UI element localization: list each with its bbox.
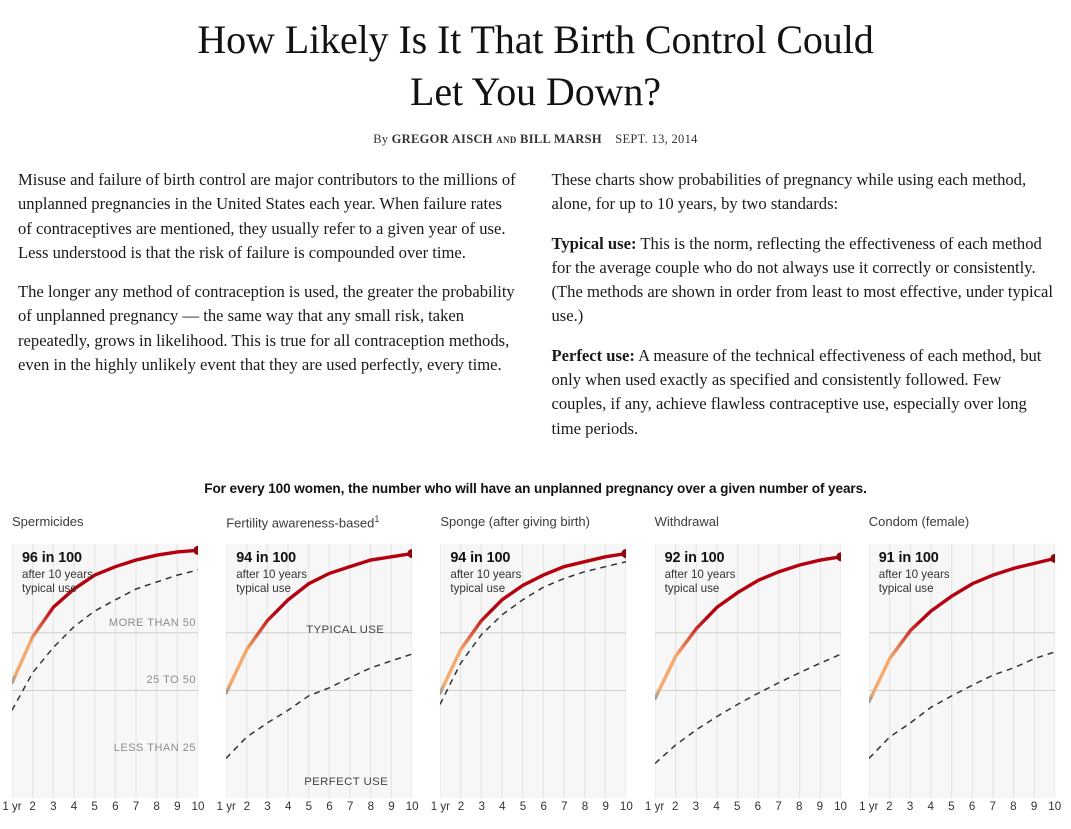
x-axis-tick: 5 <box>520 800 526 813</box>
plot-area: MORE THAN 5025 TO 50LESS THAN 25 <box>12 544 198 798</box>
x-axis-tick: 10 <box>834 800 847 813</box>
plot-area <box>869 544 1055 798</box>
chart-panel: Condom (female)91 in 100after 10 yearsty… <box>857 514 1071 814</box>
x-axis-tick: 6 <box>755 800 761 813</box>
x-axis-tick: 4 <box>713 800 719 813</box>
x-axis-tick: 7 <box>990 800 996 813</box>
panel-title: Fertility awareness-based1 <box>226 514 379 530</box>
panel-title: Withdrawal <box>655 514 719 529</box>
chart-panel: Sponge (after giving birth)94 in 100afte… <box>428 514 642 814</box>
x-axis-tick: 3 <box>907 800 913 813</box>
body-column-right: These charts show probabilities of pregn… <box>552 168 1054 441</box>
byline-date: SEPT. 13, 2014 <box>615 132 697 146</box>
body-paragraph: These charts show probabilities of pregn… <box>552 168 1054 217</box>
x-axis: 1 yr2345678910 <box>226 800 412 818</box>
x-axis-tick: 2 <box>672 800 678 813</box>
byline-prefix: By <box>373 132 388 146</box>
x-axis-tick: 8 <box>153 800 159 813</box>
panel-title: Condom (female) <box>869 514 969 529</box>
band-label: 25 TO 50 <box>147 674 196 686</box>
x-axis-tick: 7 <box>133 800 139 813</box>
x-axis-tick: 1 yr <box>431 800 450 813</box>
band-label: LESS THAN 25 <box>114 742 196 754</box>
x-axis-tick: 10 <box>620 800 633 813</box>
perfect-use-label: PERFECT USE <box>304 776 388 788</box>
x-axis-tick: 7 <box>561 800 567 813</box>
plot-area: TYPICAL USEPERFECT USE <box>226 544 412 798</box>
typical-use-label: TYPICAL USE <box>306 624 384 636</box>
plot-area <box>655 544 841 798</box>
body-paragraph: Misuse and failure of birth control are … <box>18 168 520 265</box>
x-axis-tick: 5 <box>91 800 97 813</box>
x-axis-tick: 2 <box>29 800 35 813</box>
x-axis-tick: 3 <box>264 800 270 813</box>
x-axis-tick: 10 <box>1048 800 1061 813</box>
chart-panel: Withdrawal92 in 100after 10 yearstypical… <box>643 514 857 814</box>
x-axis-tick: 7 <box>347 800 353 813</box>
chart-subhead: For every 100 women, the number who will… <box>0 481 1071 496</box>
x-axis-tick: 5 <box>306 800 312 813</box>
x-axis-tick: 6 <box>540 800 546 813</box>
x-axis-tick: 4 <box>285 800 291 813</box>
band-label: MORE THAN 50 <box>109 617 196 629</box>
chart-panel: SpermicidesMORE THAN 5025 TO 50LESS THAN… <box>0 514 214 814</box>
page-title: How Likely Is It That Birth Control Coul… <box>186 14 886 118</box>
body-paragraph: The longer any method of contraception i… <box>18 280 520 377</box>
byline-authors: GREGOR AISCH and BILL MARSH <box>392 132 602 146</box>
byline: By GREGOR AISCH and BILL MARSH SEPT. 13,… <box>0 132 1071 147</box>
plot-area <box>440 544 626 798</box>
x-axis-tick: 1 yr <box>2 800 21 813</box>
x-axis-tick: 4 <box>71 800 77 813</box>
plot-background <box>869 544 1055 798</box>
x-axis-tick: 6 <box>969 800 975 813</box>
x-axis-tick: 9 <box>817 800 823 813</box>
x-axis-tick: 6 <box>112 800 118 813</box>
x-axis-tick: 9 <box>388 800 394 813</box>
lead-in-typical-use: Typical use: <box>552 234 637 253</box>
x-axis: 1 yr2345678910 <box>440 800 626 818</box>
x-axis-tick: 2 <box>458 800 464 813</box>
x-axis-tick: 4 <box>499 800 505 813</box>
plot-background <box>226 544 412 798</box>
x-axis-tick: 3 <box>478 800 484 813</box>
lead-in-perfect-use: Perfect use: <box>552 346 635 365</box>
body-paragraph-perfect-use: Perfect use: A measure of the technical … <box>552 344 1054 441</box>
x-axis-tick: 5 <box>734 800 740 813</box>
x-axis-tick: 1 yr <box>217 800 236 813</box>
x-axis-tick: 4 <box>928 800 934 813</box>
x-axis-tick: 1 yr <box>645 800 664 813</box>
x-axis-tick: 9 <box>1031 800 1037 813</box>
body-column-left: Misuse and failure of birth control are … <box>18 168 520 441</box>
x-axis-tick: 2 <box>886 800 892 813</box>
x-axis-tick: 8 <box>796 800 802 813</box>
x-axis: 1 yr2345678910 <box>869 800 1055 818</box>
x-axis-tick: 5 <box>948 800 954 813</box>
x-axis-tick: 8 <box>582 800 588 813</box>
x-axis: 1 yr2345678910 <box>655 800 841 818</box>
plot-background <box>655 544 841 798</box>
x-axis-tick: 7 <box>775 800 781 813</box>
chart-panel-group: SpermicidesMORE THAN 5025 TO 50LESS THAN… <box>0 514 1071 814</box>
x-axis-tick: 8 <box>368 800 374 813</box>
x-axis-tick: 1 yr <box>859 800 878 813</box>
plot-background <box>12 544 198 798</box>
x-axis-tick: 6 <box>326 800 332 813</box>
x-axis-tick: 8 <box>1010 800 1016 813</box>
x-axis-tick: 3 <box>50 800 56 813</box>
panel-title: Spermicides <box>12 514 84 529</box>
x-axis: 1 yr2345678910 <box>12 800 198 818</box>
chart-panel: Fertility awareness-based1TYPICAL USEPER… <box>214 514 428 814</box>
panel-title: Sponge (after giving birth) <box>440 514 590 529</box>
x-axis-tick: 10 <box>406 800 419 813</box>
x-axis-tick: 10 <box>192 800 205 813</box>
article-body: Misuse and failure of birth control are … <box>0 168 1071 441</box>
article-header: How Likely Is It That Birth Control Coul… <box>0 0 1071 147</box>
body-paragraph-typical-use: Typical use: This is the norm, reflectin… <box>552 232 1054 329</box>
footnote-marker: 1 <box>374 514 379 524</box>
x-axis-tick: 9 <box>602 800 608 813</box>
x-axis-tick: 3 <box>693 800 699 813</box>
x-axis-tick: 2 <box>244 800 250 813</box>
x-axis-tick: 9 <box>174 800 180 813</box>
